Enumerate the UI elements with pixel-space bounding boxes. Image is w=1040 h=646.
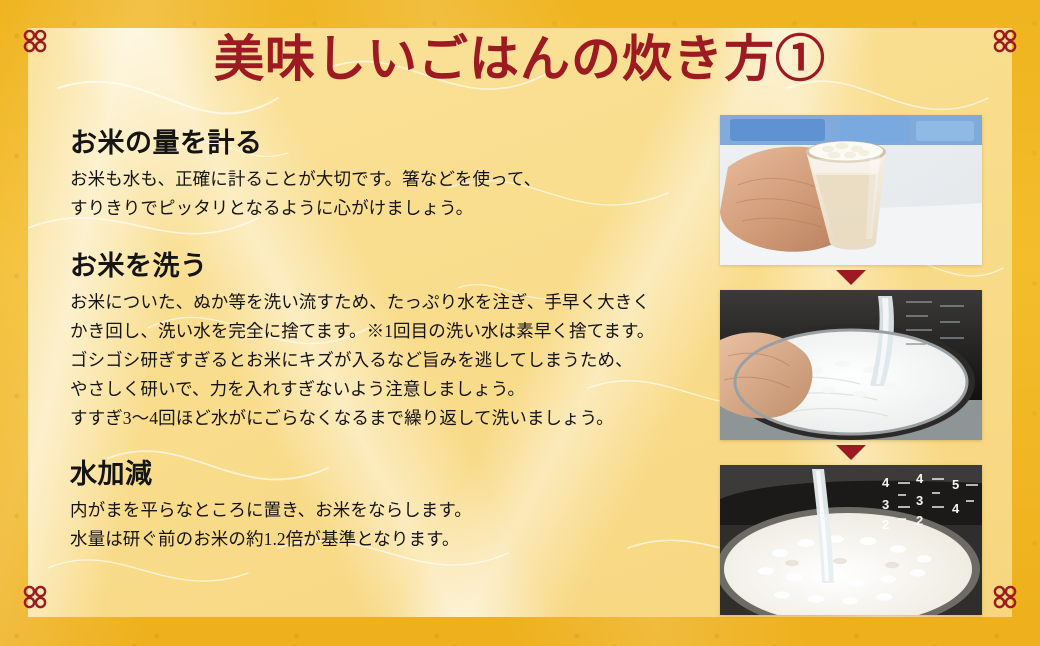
poster-title: 美味しいごはんの炊き方① [0,34,1040,84]
step-arrow-icon [836,270,866,285]
body-line: ゴシゴシ研ぎすぎるとお米にキズが入るなど旨みを逃してしまうため、 [70,346,690,375]
body-line: 水量は研ぐ前のお米の約1.2倍が基準となります。 [70,525,690,554]
corner-ornament-icon [22,584,48,610]
gauge-label: 2 [916,513,923,528]
gauge-label: 3 [916,493,923,508]
section-heading: 水加減 [70,459,690,490]
gauge-label: 5 [952,477,959,492]
body-line: かき回し、洗い水を完全に捨てます。※1回目の洗い水は素早く捨てます。 [70,317,690,346]
gauge-label: 4 [882,475,890,490]
section-body: お米についた、ぬか等を洗い流すため、たっぷり水を注ぎ、手早く大きく かき回し、洗… [70,288,690,433]
corner-ornament-icon [992,584,1018,610]
poster-root: 美味しいごはんの炊き方① お米の量を計る お米も水も、正確に計ることが大切です。… [0,0,1040,646]
instructions-column: お米の量を計る お米も水も、正確に計ることが大切です。箸などを使って、 すりきり… [70,128,690,570]
section-measure-rice: お米の量を計る お米も水も、正確に計ることが大切です。箸などを使って、 すりきり… [70,128,690,223]
gauge-label: 4 [952,501,960,516]
body-line: すりきりでピッタリとなるように心がけましょう。 [70,194,690,223]
section-body: 内がまを平らなところに置き、お米をならします。 水量は研ぐ前のお米の約1.2倍が… [70,496,690,554]
section-body: お米も水も、正確に計ることが大切です。箸などを使って、 すりきりでピッタリとなる… [70,165,690,223]
photo-adding-water-to-pot: 4 3 2 4 3 2 5 4 [720,465,982,615]
gauge-label: 3 [882,497,889,512]
gauge-label: 4 [916,471,924,486]
body-line: お米についた、ぬか等を洗い流すため、たっぷり水を注ぎ、手早く大きく [70,288,690,317]
section-heading: お米を洗う [70,251,690,282]
section-water-amount: 水加減 内がまを平らなところに置き、お米をならします。 水量は研ぐ前のお米の約1… [70,459,690,554]
section-heading: お米の量を計る [70,128,690,159]
body-line: 内がまを平らなところに置き、お米をならします。 [70,496,690,525]
body-line: やさしく研いで、力を入れすぎないよう注意しましょう。 [70,375,690,404]
section-wash-rice: お米を洗う お米についた、ぬか等を洗い流すため、たっぷり水を注ぎ、手早く大きく … [70,251,690,433]
photo-washing-rice-in-pot [720,290,982,440]
body-line: すすぎ3～4回ほど水がにごらなくなるまで繰り返して洗いましょう。 [70,404,690,433]
body-line: お米も水も、正確に計ることが大切です。箸などを使って、 [70,165,690,194]
photo-column: 4 3 2 4 3 2 5 4 [720,115,982,615]
photo-measuring-cup-of-rice [720,115,982,265]
gauge-label: 2 [882,517,889,532]
step-arrow-icon [836,445,866,460]
